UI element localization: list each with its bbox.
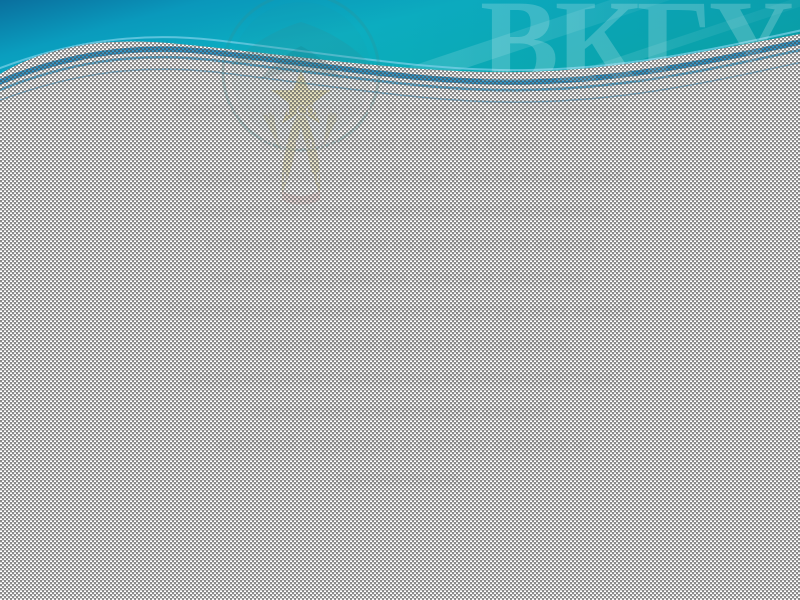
slide-body-text: Конституция содержит 9 разделов, охватыв…	[28, 92, 772, 494]
body-line: властной структуры и систему сдержек и	[28, 427, 772, 461]
body-line: все важнейшие вопросы жизни	[28, 126, 772, 160]
body-line: Конституция регламентирует структуру все…	[28, 293, 772, 327]
body-line: социальные и экономические преобразовани…	[28, 193, 772, 227]
body-line: Конституция содержит 9 разделов, охватыв…	[28, 92, 772, 126]
presentation-slide: ВКГУ Конституция содержит 9 разделов, ох…	[0, 0, 800, 600]
body-line: определяет компетенцию каждой	[28, 394, 772, 428]
body-line: противовесов.	[28, 461, 772, 495]
body-line: предусматривает механизмы их взаимодейст…	[28, 360, 772, 394]
body-line: направление развития страны и общества.	[28, 260, 772, 294]
body-line: которые определили на десятилетия вперед	[28, 226, 772, 260]
body-line: государственного устройства, а также важ…	[28, 159, 772, 193]
body-line: государственной власти и управления,	[28, 327, 772, 361]
